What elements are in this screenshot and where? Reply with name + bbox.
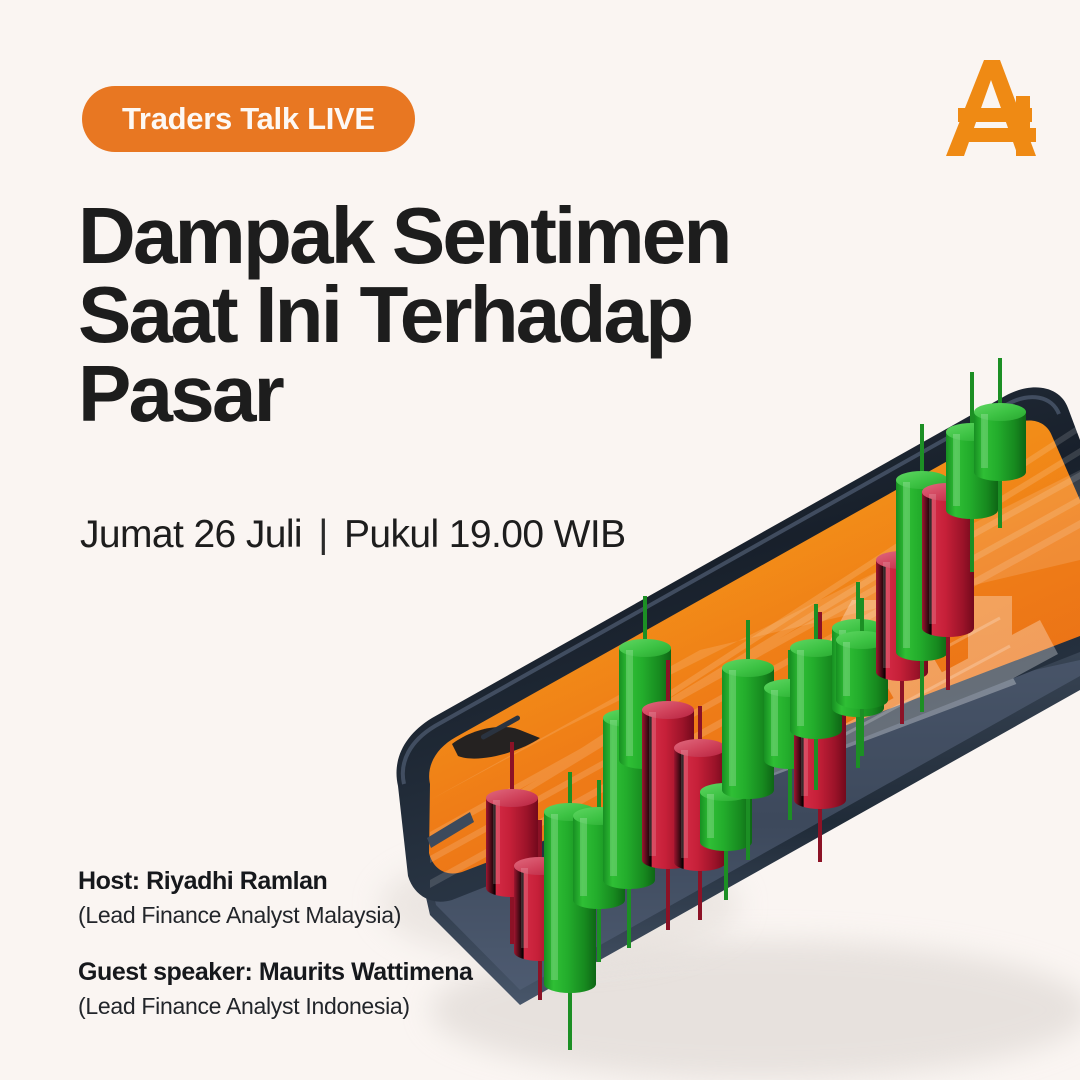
host-name: Host: Riyadhi Ramlan [78, 866, 598, 897]
credit-host: Host: Riyadhi Ramlan (Lead Finance Analy… [78, 866, 598, 931]
schedule-separator: | [312, 513, 334, 556]
guest-name: Guest speaker: Maurits Wattimena [78, 957, 598, 988]
credit-guest: Guest speaker: Maurits Wattimena (Lead F… [78, 957, 598, 1022]
event-date: Jumat 26 Juli [80, 513, 302, 556]
live-badge: Traders Talk LIVE [82, 86, 415, 152]
speaker-credits: Host: Riyadhi Ramlan (Lead Finance Analy… [78, 866, 598, 1048]
page-title: Dampak Sentimen Saat Ini Terhadap Pasar [78, 196, 838, 434]
host-role: (Lead Finance Analyst Malaysia) [78, 901, 598, 931]
headline-line-2: Saat Ini Terhadap [78, 275, 838, 354]
live-badge-label: Traders Talk LIVE [122, 101, 375, 137]
guest-role: (Lead Finance Analyst Indonesia) [78, 992, 598, 1022]
event-schedule: Jumat 26 Juli | Pukul 19.00 WIB [80, 513, 626, 557]
brand-a-logo-icon [932, 52, 1052, 170]
headline-line-1: Dampak Sentimen [78, 196, 838, 275]
event-time: Pukul 19.00 WIB [344, 513, 625, 556]
headline-line-3: Pasar [78, 354, 838, 433]
